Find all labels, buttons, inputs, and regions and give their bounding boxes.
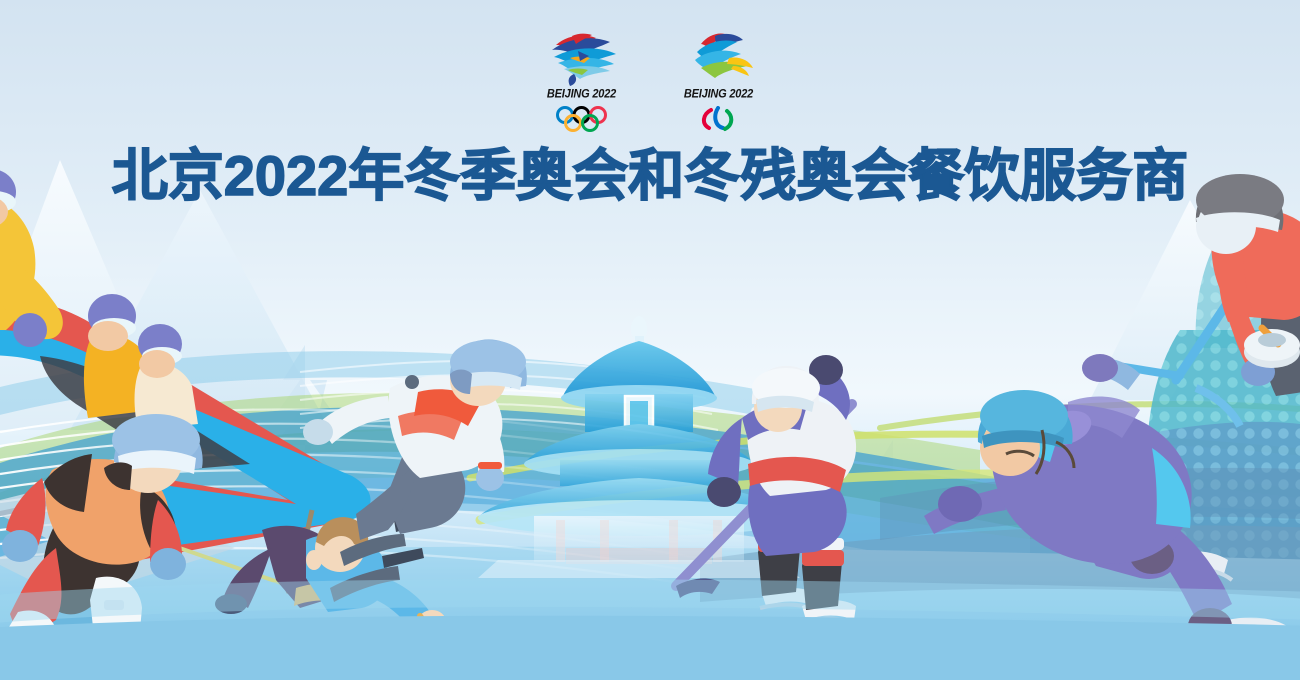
curling-stone-right [1244, 328, 1300, 368]
curler-delivering-illustration [1082, 174, 1300, 426]
page-title: 北京2022年冬季奥会和冬残奥会餐饮服务商 [0, 144, 1300, 208]
flight-ribbon-icon [671, 30, 766, 86]
beijing-2022-catering-sponsor-banner: BEIJING 2022 B [0, 0, 1300, 680]
agitos-icon [671, 106, 766, 132]
beijing-2022-paralympic-emblem: BEIJING 2022 [671, 30, 766, 135]
winter-dream-ribbon-icon [534, 30, 629, 86]
olympic-rings-icon [534, 106, 629, 132]
foreground-ice-waves [0, 579, 1300, 680]
paralympic-wordmark: BEIJING 2022 [671, 87, 766, 100]
olympic-wordmark: BEIJING 2022 [534, 87, 629, 100]
beijing-2022-olympic-emblem: BEIJING 2022 [534, 30, 629, 135]
emblem-row: BEIJING 2022 B [0, 30, 1300, 135]
